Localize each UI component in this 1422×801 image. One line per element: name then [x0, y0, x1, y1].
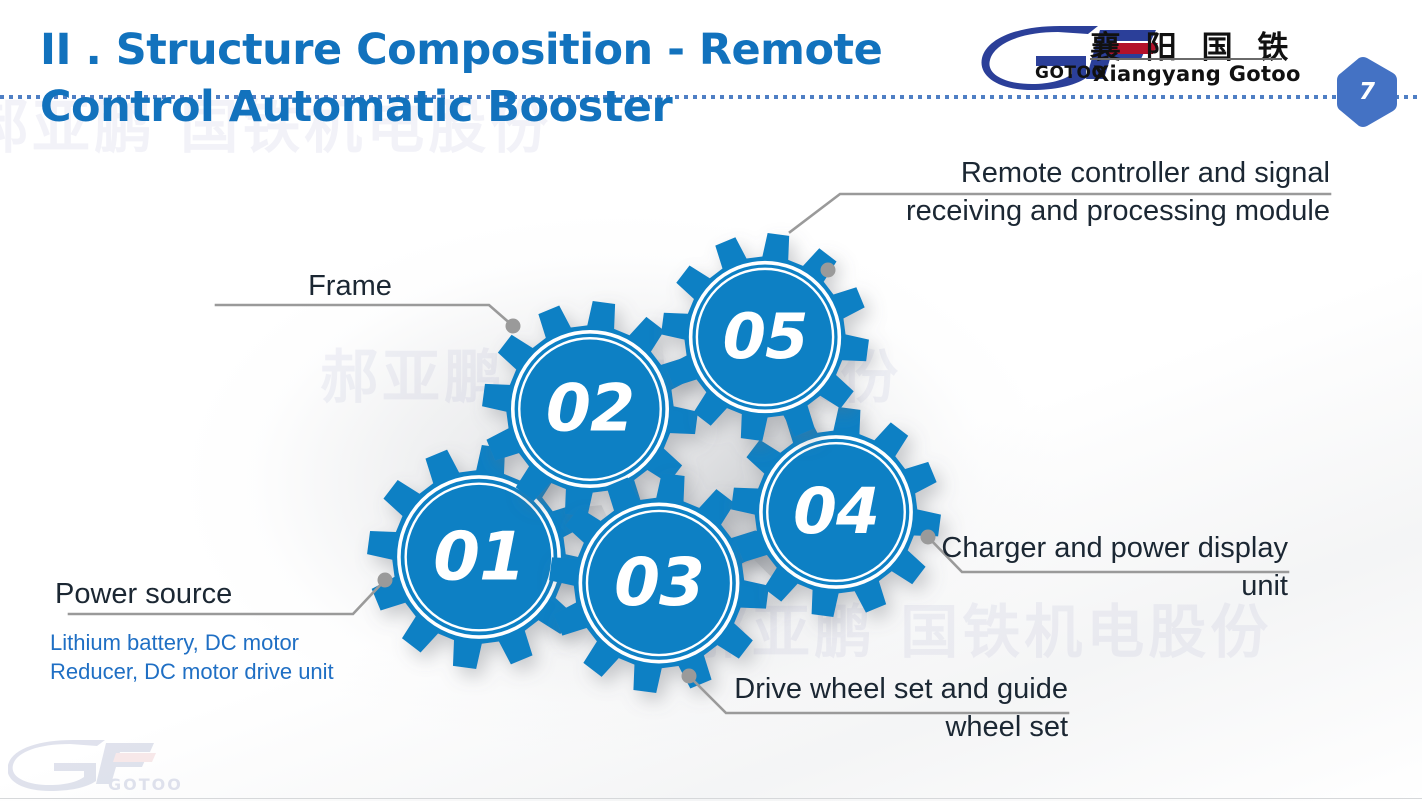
gotoo-wordmark: GOTOO — [1035, 63, 1106, 83]
gear-number: 02 — [546, 372, 634, 447]
callout-label-frame: Frame — [200, 268, 500, 306]
brand-english-name: Xiangyang Gotoo — [1093, 62, 1301, 86]
callout-label-drive: Drive wheel set and guide wheel set — [720, 671, 1068, 747]
gear-number: 01 — [433, 517, 525, 595]
callout-label-charger: Charger and power display unit — [940, 530, 1288, 606]
gear-number: 03 — [614, 544, 704, 621]
gear-number: 05 — [723, 300, 808, 373]
callout-label-remote: Remote controller and signal receiving a… — [860, 155, 1330, 231]
gear-number: 04 — [793, 475, 879, 548]
callout-label-power: Power source — [55, 576, 355, 614]
brand-divider — [1090, 58, 1282, 60]
page-number-badge: 7 — [1336, 57, 1398, 127]
callout-sublabel-power: Lithium battery, DC motor Reducer, DC mo… — [50, 628, 470, 686]
brand-chinese-name: 襄 阳 国 铁 — [1090, 22, 1295, 67]
page-title: II . Structure Composition - Remote Cont… — [40, 22, 940, 136]
slide-canvas: 郝亚鹏 国铁机电股份 郝亚鹏 国铁机电股份 郝亚鹏 国铁机电股份 郝亚鹏 国铁机… — [0, 0, 1422, 801]
page-number: 7 — [1336, 57, 1398, 127]
